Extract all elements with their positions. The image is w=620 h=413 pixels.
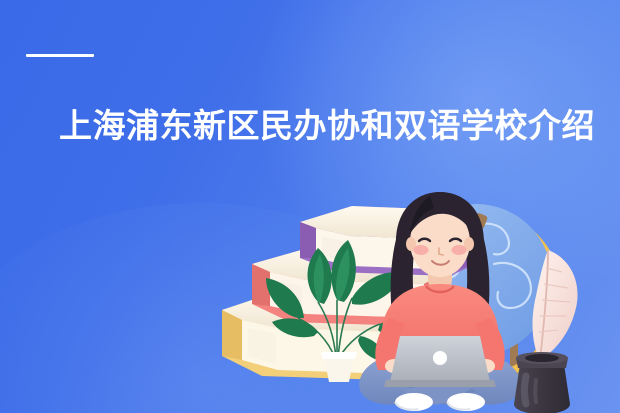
laptop-icon xyxy=(384,336,496,387)
inkwell-icon xyxy=(514,352,570,413)
school-intro-banner: 上海浦东新区民办协和双语学校介绍 xyxy=(0,0,620,413)
accent-rule xyxy=(26,54,94,57)
page-title: 上海浦东新区民办协和双语学校介绍 xyxy=(59,106,595,146)
study-illustration xyxy=(218,168,620,413)
